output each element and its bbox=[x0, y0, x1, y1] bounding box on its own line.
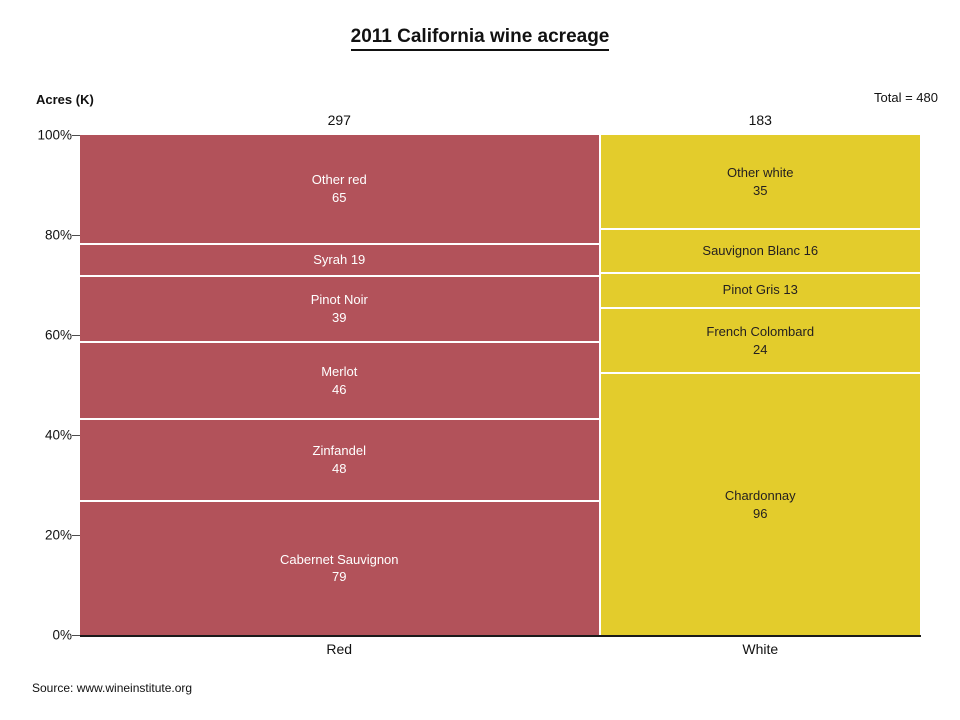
segment-value: 35 bbox=[753, 182, 767, 200]
chart-segment[interactable]: Syrah 19 bbox=[80, 245, 599, 277]
source-note: Source: www.wineinstitute.org bbox=[32, 681, 192, 695]
page-title: 2011 California wine acreage bbox=[0, 26, 960, 48]
chart-segment[interactable]: Sauvignon Blanc 16 bbox=[601, 230, 920, 273]
y-axis-tick-label: 60% bbox=[12, 328, 72, 343]
chart-column-white[interactable]: Other white35Sauvignon Blanc 16Pinot Gri… bbox=[601, 135, 920, 635]
grand-total-label: Total = 480 bbox=[874, 90, 938, 105]
y-axis-tick-label: 20% bbox=[12, 528, 72, 543]
chart-canvas: 2011 California wine acreage Acres (K) T… bbox=[0, 0, 960, 720]
segment-label: Syrah bbox=[313, 252, 347, 267]
segment-label: Other red bbox=[312, 171, 367, 189]
segment-label: Cabernet Sauvignon bbox=[280, 551, 399, 569]
chart-segment[interactable]: Chardonnay96 bbox=[601, 374, 920, 635]
segment-label: Chardonnay bbox=[725, 487, 796, 505]
chart-segment[interactable]: Zinfandel48 bbox=[80, 420, 599, 501]
segment-value: 79 bbox=[332, 568, 346, 586]
column-total-label: 297 bbox=[328, 112, 351, 128]
segment-value: 13 bbox=[783, 282, 797, 297]
segment-label: Other white bbox=[727, 164, 793, 182]
y-axis-tick-mark bbox=[72, 235, 80, 236]
y-axis-tick-mark bbox=[72, 435, 80, 436]
chart-segment[interactable]: French Colombard24 bbox=[601, 309, 920, 374]
segment-value: 39 bbox=[332, 309, 346, 327]
chart-segment[interactable]: Other red65 bbox=[80, 135, 599, 245]
x-axis-line bbox=[80, 635, 921, 637]
y-axis-tick-label: 40% bbox=[12, 428, 72, 443]
segment-label: Pinot Gris bbox=[723, 282, 780, 297]
column-total-label: 183 bbox=[749, 112, 772, 128]
segment-value: 96 bbox=[753, 505, 767, 523]
y-axis-tick-label: 100% bbox=[12, 128, 72, 143]
y-axis-tick-mark bbox=[72, 535, 80, 536]
y-axis-tick-mark bbox=[72, 135, 80, 136]
segment-value: 24 bbox=[753, 341, 767, 359]
chart-column-red[interactable]: Other red65Syrah 19Pinot Noir39Merlot46Z… bbox=[80, 135, 599, 635]
x-axis-category-label: White bbox=[742, 641, 778, 657]
y-axis-tick-mark bbox=[72, 635, 80, 636]
chart-segment[interactable]: Other white35 bbox=[601, 135, 920, 230]
y-axis-tick-label: 80% bbox=[12, 228, 72, 243]
segment-label: Merlot bbox=[321, 363, 357, 381]
chart-segment[interactable]: Merlot46 bbox=[80, 343, 599, 421]
segment-value: 46 bbox=[332, 381, 346, 399]
segment-value: 65 bbox=[332, 189, 346, 207]
page-title-text: 2011 California wine acreage bbox=[351, 26, 610, 51]
y-axis-tick-mark bbox=[72, 335, 80, 336]
segment-value: 16 bbox=[804, 243, 818, 258]
chart-segment[interactable]: Pinot Gris 13 bbox=[601, 274, 920, 309]
x-axis-category-label: Red bbox=[326, 641, 352, 657]
y-axis-unit-label: Acres (K) bbox=[36, 92, 94, 107]
chart-segment[interactable]: Cabernet Sauvignon79 bbox=[80, 502, 599, 635]
segment-label: French Colombard bbox=[706, 323, 814, 341]
segment-label: Sauvignon Blanc bbox=[702, 243, 800, 258]
chart-segment[interactable]: Pinot Noir39 bbox=[80, 277, 599, 343]
y-axis-tick-label: 0% bbox=[12, 628, 72, 643]
segment-label: Pinot Noir bbox=[311, 291, 368, 309]
plot-area: Other red65Syrah 19Pinot Noir39Merlot46Z… bbox=[80, 135, 920, 635]
segment-value: 48 bbox=[332, 460, 346, 478]
segment-label: Zinfandel bbox=[313, 442, 366, 460]
segment-value: 19 bbox=[351, 252, 365, 267]
